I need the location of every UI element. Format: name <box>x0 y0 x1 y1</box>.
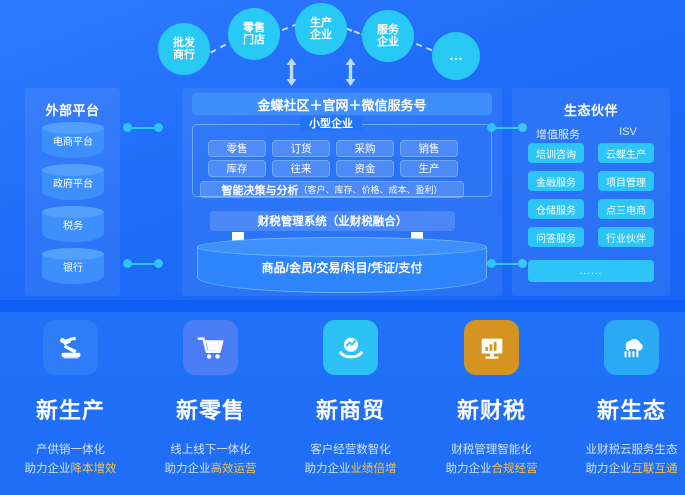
solution-title-0: 新生产 <box>2 393 139 425</box>
solution-desc-line2-3: 助力企业合规经营 <box>423 460 560 479</box>
solution-desc-line2-4: 助力企业互联互通 <box>563 460 685 479</box>
module-chip-retail[interactable]: 零售 <box>208 140 266 157</box>
cloud-network-icon <box>617 333 647 363</box>
bubble-more[interactable]: … <box>432 32 480 80</box>
connector-dot-left-top-b <box>154 123 163 132</box>
solution-desc-plain-1: 助力企业 <box>165 463 211 475</box>
solution-desc-plain-0: 助力企业 <box>25 463 71 475</box>
solution-card-new-trade[interactable]: 新商贸 客户经营数智化 助力企业业绩倍增 <box>282 320 419 479</box>
ecosystem-col2-head: ISV <box>598 126 658 138</box>
solution-card-new-retail[interactable]: 新零售 线上线下一体化 助力企业高效运营 <box>142 320 279 479</box>
robot-arm-icon-tile <box>43 320 98 375</box>
solution-card-new-production[interactable]: 新生产 产供销一体化 助力企业降本增效 <box>2 320 139 479</box>
bubble-production-line2: 企业 <box>310 29 332 41</box>
ecosystem-pill-yundie-production[interactable]: 云蝶生产 <box>598 143 654 163</box>
module-chip-funds[interactable]: 资金 <box>336 160 394 177</box>
module-chip-order[interactable]: 订货 <box>272 140 330 157</box>
solution-desc-line2-2: 助力企业业绩倍增 <box>282 460 419 479</box>
data-store-cylinder[interactable]: 商品/会员/交易/科目/凭证/支付 <box>197 237 487 299</box>
module-chip-inventory[interactable]: 库存 <box>208 160 266 177</box>
solution-desc-line1-2: 客户经营数智化 <box>282 441 419 460</box>
monitor-bar-chart-icon-tile <box>464 320 519 375</box>
bubble-service-line2: 企业 <box>377 36 399 48</box>
solution-desc-highlight-3: 合规经营 <box>492 463 538 475</box>
hand-chart-icon <box>336 333 366 363</box>
solution-desc-highlight-1: 高效运营 <box>211 463 257 475</box>
solution-desc-line1-0: 产供销一体化 <box>2 441 139 460</box>
external-platform-item-ecommerce[interactable]: 电商平台 <box>42 122 104 162</box>
ecosystem-more-bar[interactable]: ...... <box>528 260 654 282</box>
external-platform-title: 外部平台 <box>25 100 120 119</box>
ecosystem-pill-warehouse[interactable]: 仓储服务 <box>528 199 584 219</box>
ecosystem-pill-qa[interactable]: 问答服务 <box>528 227 584 247</box>
smart-analytics-sub: （客户、库存、价格、成本、盈利） <box>298 183 442 196</box>
bidirectional-arrow-left-icon <box>286 58 297 86</box>
module-chip-purchase[interactable]: 采购 <box>336 140 394 157</box>
solution-desc-1: 线上线下一体化 助力企业高效运营 <box>142 441 279 479</box>
solution-desc-line2-1: 助力企业高效运营 <box>142 460 279 479</box>
finance-tax-system-label: 财税管理系统（业财税融合） <box>258 213 408 229</box>
hand-chart-icon-tile <box>323 320 378 375</box>
cloud-network-icon-tile <box>604 320 659 375</box>
solution-desc-highlight-4: 互联互通 <box>632 463 678 475</box>
solution-desc-0: 产供销一体化 助力企业降本增效 <box>2 441 139 479</box>
solution-title-3: 新财税 <box>423 393 560 425</box>
external-platform-label-1: 政府平台 <box>42 174 104 196</box>
smart-analytics-bar[interactable]: 智能决策与分析 （客户、库存、价格、成本、盈利） <box>200 181 464 198</box>
solution-desc-plain-2: 助力企业 <box>305 463 351 475</box>
bubble-wholesale-line1: 批发 <box>173 37 195 49</box>
connector-dot-left-bottom-b <box>154 259 163 268</box>
data-store-top <box>197 237 487 257</box>
ecosystem-pill-industry-partner[interactable]: 行业伙伴 <box>598 227 654 247</box>
bubble-service-enterprise[interactable]: 服务 企业 <box>362 10 414 62</box>
solution-title-1: 新零售 <box>142 393 279 425</box>
bubble-retail-line2: 门店 <box>243 34 265 46</box>
shopping-cart-icon-tile <box>183 320 238 375</box>
external-platform-item-tax[interactable]: 税务 <box>42 206 104 246</box>
solution-desc-3: 财税管理智能化 助力企业合规经营 <box>423 441 560 479</box>
ecosystem-pill-project-management[interactable]: 项目管理 <box>598 171 654 191</box>
solution-desc-plain-4: 助力企业 <box>586 463 632 475</box>
robot-arm-icon <box>56 333 86 363</box>
data-store-label: 商品/会员/交易/科目/凭证/支付 <box>197 259 487 276</box>
solution-desc-4: 业财税云服务生态 助力企业互联互通 <box>563 441 685 479</box>
ecosystem-col1-head: 增值服务 <box>528 126 588 142</box>
bidirectional-arrow-right-icon <box>345 58 356 86</box>
solution-desc-line2-0: 助力企业降本增效 <box>2 460 139 479</box>
solution-desc-line1-4: 业财税云服务生态 <box>563 441 685 460</box>
community-header-bar[interactable]: 金蝶社区＋官网＋微信服务号 <box>192 93 492 115</box>
community-header-label: 金蝶社区＋官网＋微信服务号 <box>257 95 426 114</box>
external-platform-item-bank[interactable]: 银行 <box>42 248 104 288</box>
ecosystem-pill-dian3-ecommerce[interactable]: 点三电商 <box>598 199 654 219</box>
solution-title-4: 新生态 <box>563 393 685 425</box>
bubble-retail-store[interactable]: 零售 门店 <box>228 8 280 60</box>
solution-desc-highlight-2: 业绩倍增 <box>351 463 397 475</box>
shopping-cart-icon <box>196 333 226 363</box>
solution-card-new-finance-tax[interactable]: 新财税 财税管理智能化 助力企业合规经营 <box>423 320 560 479</box>
finance-tax-system-bar[interactable]: 财税管理系统（业财税融合） <box>210 211 455 231</box>
bubble-service-line1: 服务 <box>377 24 399 36</box>
sme-group-tag: 小型企业 <box>300 117 362 131</box>
solution-card-new-ecosystem[interactable]: 新生态 业财税云服务生态 助力企业互联互通 <box>563 320 685 479</box>
solution-desc-plain-3: 助力企业 <box>446 463 492 475</box>
solution-desc-highlight-0: 降本增效 <box>71 463 117 475</box>
solution-title-2: 新商贸 <box>282 393 419 425</box>
bubble-retail-line1: 零售 <box>243 22 265 34</box>
module-chip-production[interactable]: 生产 <box>400 160 458 177</box>
ecosystem-partner-title: 生态伙伴 <box>512 100 670 119</box>
bubble-wholesale-line2: 商行 <box>173 49 195 61</box>
monitor-bar-chart-icon <box>477 333 507 363</box>
bubble-production-line1: 生产 <box>310 17 332 29</box>
module-chip-transactions[interactable]: 往来 <box>272 160 330 177</box>
bubble-more-label: … <box>449 48 463 64</box>
external-platform-label-0: 电商平台 <box>42 132 104 154</box>
section-divider-band <box>0 300 685 312</box>
smart-analytics-main: 智能决策与分析 <box>221 182 298 198</box>
architecture-diagram: 批发 商行 零售 门店 生产 企业 服务 企业 … 外部平台 电商平台 政府平台 <box>0 0 685 495</box>
solution-desc-line1-1: 线上线下一体化 <box>142 441 279 460</box>
module-chip-sales[interactable]: 销售 <box>400 140 458 157</box>
external-platform-item-government[interactable]: 政府平台 <box>42 164 104 204</box>
bubble-production-enterprise[interactable]: 生产 企业 <box>295 3 347 55</box>
ecosystem-pill-finance[interactable]: 金融服务 <box>528 171 584 191</box>
ecosystem-pill-training[interactable]: 培训咨询 <box>528 143 584 163</box>
external-platform-label-3: 银行 <box>42 258 104 280</box>
solution-desc-2: 客户经营数智化 助力企业业绩倍增 <box>282 441 419 479</box>
bubble-wholesale[interactable]: 批发 商行 <box>158 23 210 75</box>
solution-desc-line1-3: 财税管理智能化 <box>423 441 560 460</box>
external-platform-label-2: 税务 <box>42 216 104 238</box>
